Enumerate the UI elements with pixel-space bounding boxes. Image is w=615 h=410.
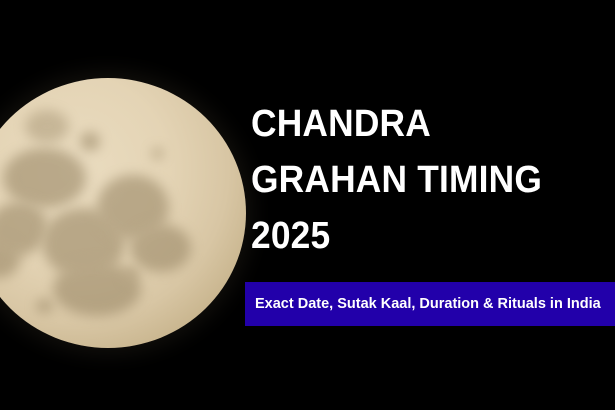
moon-image <box>0 78 246 348</box>
moon-crater <box>152 148 163 159</box>
moon-disc <box>0 78 246 348</box>
moon-crater <box>36 299 53 313</box>
moon-mare <box>25 110 69 142</box>
moon-mare <box>53 262 141 316</box>
moon-crater <box>125 267 139 281</box>
moon-limb-shading <box>0 78 246 348</box>
moon-maria-group <box>0 78 246 348</box>
moon-mare <box>0 240 20 278</box>
title-line-2: GRAHAN TIMING <box>251 152 590 208</box>
moon-mare <box>42 208 125 278</box>
moon-mare <box>130 224 191 273</box>
moon-mare <box>0 194 54 264</box>
poster-canvas: CHANDRA GRAHAN TIMING 2025 Exact Date, S… <box>0 0 615 410</box>
moon-mare <box>3 148 86 207</box>
moon-mare <box>97 175 169 240</box>
title-line-3: 2025 <box>251 208 590 264</box>
subtitle-banner: Exact Date, Sutak Kaal, Duration & Ritua… <box>245 282 615 326</box>
page-title: CHANDRA GRAHAN TIMING 2025 <box>251 96 615 264</box>
title-line-1: CHANDRA <box>251 96 590 152</box>
subtitle-text: Exact Date, Sutak Kaal, Duration & Ritua… <box>255 282 601 326</box>
moon-crater <box>80 132 99 151</box>
